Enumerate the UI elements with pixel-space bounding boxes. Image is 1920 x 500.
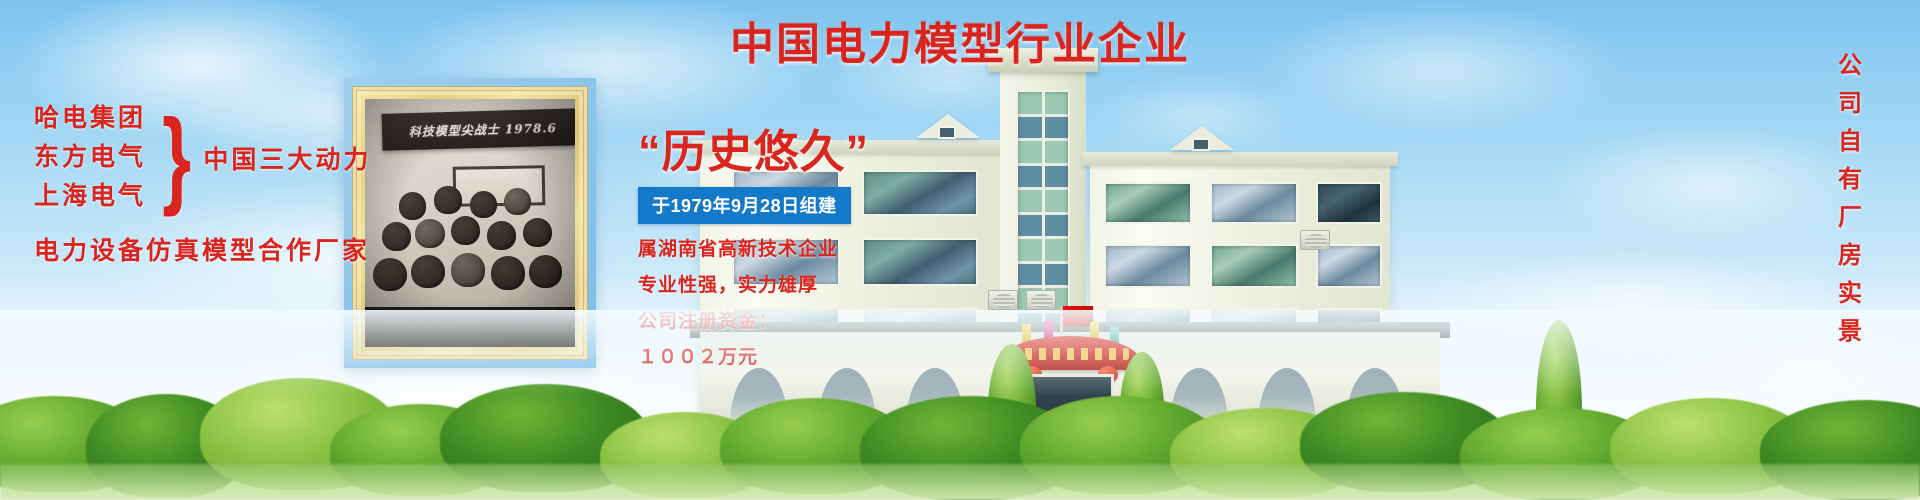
shrub (330, 404, 510, 496)
poplar-tree (1536, 320, 1582, 470)
company-facts-list: 属湖南省高新技术企业 专业性强，实力雄厚 公司注册资金： １００２万元 (638, 240, 938, 367)
building-window (1316, 182, 1382, 224)
vertical-caption-char: 景 (1838, 320, 1862, 344)
building-window (1104, 182, 1192, 224)
entrance-red-arch-sign (1000, 336, 1140, 370)
entrance-door (1026, 374, 1114, 438)
vintage-photo-frame: 科技模型尖战士 1978.6 (344, 78, 596, 368)
gable-window (938, 126, 956, 139)
brand-item: 上海电气 (34, 184, 146, 209)
shrub (440, 384, 650, 492)
founding-date-badge: 于1979年9月28日组建 (638, 187, 851, 224)
brand-brace-row: 哈电集团 东方电气 上海电气 } 中国三大动力 (34, 106, 371, 209)
building-eave (1082, 152, 1398, 166)
vintage-group-photo: 科技模型尖战士 1978.6 (365, 99, 575, 347)
banner-main-title: 中国电力模型行业企业 (0, 8, 1920, 72)
photo-frame-gold-molding: 科技模型尖战士 1978.6 (352, 86, 588, 360)
building-window (1210, 182, 1298, 224)
partner-line: 电力设备仿真模型合作厂家 (34, 231, 371, 267)
vertical-caption-char: 有 (1838, 168, 1862, 192)
vertical-caption-char: 厂 (1838, 206, 1862, 230)
shrub (0, 396, 150, 492)
brand-item: 哈电集团 (34, 106, 146, 131)
company-fact: 公司注册资金： (638, 312, 938, 331)
shrub (200, 378, 400, 490)
vertical-caption-char: 实 (1838, 282, 1862, 306)
history-slogan: “历史悠久” (638, 128, 938, 175)
company-fact: 属湖南省高新技术企业 (638, 240, 938, 259)
vertical-caption: 公 司 自 有 厂 房 实 景 (1838, 54, 1862, 344)
vertical-caption-char: 房 (1838, 244, 1862, 268)
building-window (1210, 244, 1298, 288)
photo-vignette (365, 99, 575, 347)
gable-window (1192, 138, 1210, 151)
vertical-caption-char: 自 (1838, 130, 1862, 154)
left-copy-block: 哈电集团 东方电气 上海电气 } 中国三大动力 电力设备仿真模型合作厂家 (34, 106, 371, 267)
air-conditioner-unit (988, 290, 1018, 310)
brand-item: 东方电气 (34, 145, 146, 170)
building-window (1316, 244, 1382, 288)
company-fact: 专业性强，实力雄厚 (638, 276, 938, 295)
cloud-shape (1600, 300, 1920, 420)
curly-brace-icon: } (162, 119, 191, 196)
chinese-flag-icon (1063, 306, 1093, 326)
grass-strip (0, 464, 1920, 500)
air-conditioner-unit (1026, 290, 1056, 310)
vertical-caption-char: 司 (1838, 92, 1862, 116)
brace-label: 中国三大动力 (203, 140, 371, 176)
shrub (1460, 408, 1660, 500)
history-copy-block: “历史悠久” 于1979年9月28日组建 属湖南省高新技术企业 专业性强，实力雄… (638, 128, 938, 384)
company-hero-banner: 中国电力模型行业企业 哈电集团 东方电气 上海电气 } 中国三大动力 电力设备仿… (0, 0, 1920, 500)
air-conditioner-unit (1300, 230, 1330, 250)
building-entrance (1000, 318, 1140, 438)
building-window (1104, 244, 1192, 288)
brand-list: 哈电集团 东方电气 上海电气 (34, 106, 146, 209)
vertical-caption-char: 公 (1838, 54, 1862, 78)
shrub (1760, 400, 1920, 500)
company-fact: １００２万元 (638, 348, 938, 367)
shrub (1610, 398, 1810, 494)
shrub (86, 394, 246, 498)
